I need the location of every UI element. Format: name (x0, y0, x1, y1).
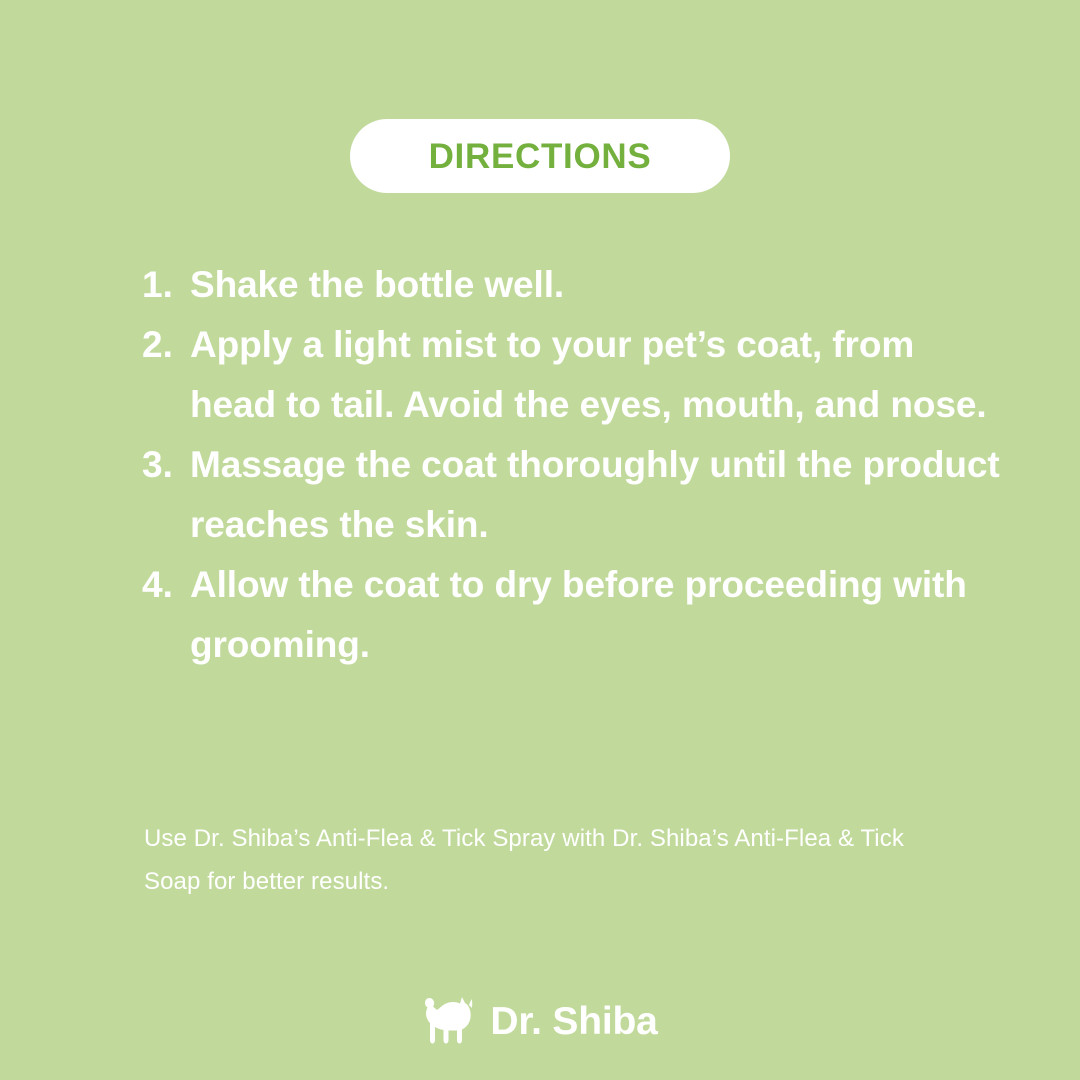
step-number: 4. (142, 555, 190, 615)
list-item: 3. Massage the coat thoroughly until the… (142, 435, 1002, 555)
page-title: DIRECTIONS (429, 139, 652, 174)
step-number: 3. (142, 435, 190, 495)
brand-logo: Dr. Shiba (0, 993, 1080, 1049)
step-number: 1. (142, 255, 190, 315)
list-item: 1. Shake the bottle well. (142, 255, 1002, 315)
brand-wordmark: Dr. Shiba (490, 1002, 657, 1041)
step-text: Allow the coat to dry before proceeding … (190, 555, 1002, 675)
step-text: Shake the bottle well. (190, 255, 1002, 315)
directions-card: DIRECTIONS 1. Shake the bottle well. 2. … (0, 0, 1080, 1080)
list-item: 4. Allow the coat to dry before proceedi… (142, 555, 1002, 675)
step-text: Massage the coat thoroughly until the pr… (190, 435, 1002, 555)
usage-footnote: Use Dr. Shiba’s Anti-Flea & Tick Spray w… (144, 817, 904, 903)
step-number: 2. (142, 315, 190, 375)
heading-pill: DIRECTIONS (350, 119, 730, 193)
list-item: 2. Apply a light mist to your pet’s coat… (142, 315, 1002, 435)
directions-list: 1. Shake the bottle well. 2. Apply a lig… (142, 255, 1002, 675)
shiba-dog-icon (422, 996, 476, 1046)
step-text: Apply a light mist to your pet’s coat, f… (190, 315, 1002, 435)
